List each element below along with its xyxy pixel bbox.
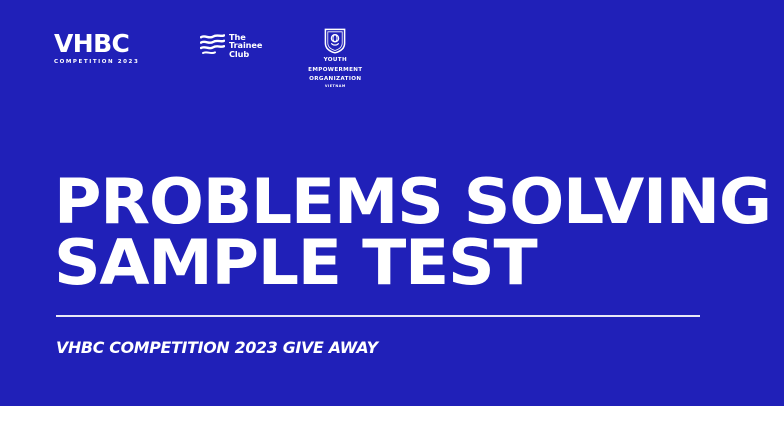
logo-vhbc: VHBC COMPETITION 2023 [54,26,134,66]
horizontal-divider [56,315,700,317]
waves-icon [200,33,225,55]
logo-trainee-club: The Trainee Club [200,26,262,58]
bottom-white-strip [0,406,784,441]
vhbc-tagline: COMPETITION 2023 [54,59,136,66]
trainee-club-line-3: Club [229,50,262,58]
yeo-line-2: EMPOWERMENT [308,67,362,74]
logo-bar: VHBC COMPETITION 2023 The Trainee Club [54,26,368,82]
slide-kicker: VHBC COMPETITION 2023 GIVE AWAY [56,338,378,357]
vhbc-wordmark: VHBC [54,31,134,56]
presentation-slide: VHBC COMPETITION 2023 The Trainee Club [0,0,784,441]
yeo-line-1: YOUTH [324,57,347,64]
headline-line-2: SAMPLE TEST [54,232,775,293]
yeo-country: VIETNAM [325,84,346,88]
trainee-club-wordmark: The Trainee Club [229,33,262,58]
slide-blue-panel: VHBC COMPETITION 2023 The Trainee Club [0,0,784,406]
logo-youth-empowerment: YOUTH EMPOWERMENT ORGANIZATION VIETNAM [302,26,368,88]
slide-headline: PROBLEMS SOLVING SAMPLE TEST [54,171,744,293]
headline-line-1: PROBLEMS SOLVING [54,171,775,232]
crest-shield-icon [324,28,346,54]
yeo-line-3: ORGANIZATION [309,76,361,83]
